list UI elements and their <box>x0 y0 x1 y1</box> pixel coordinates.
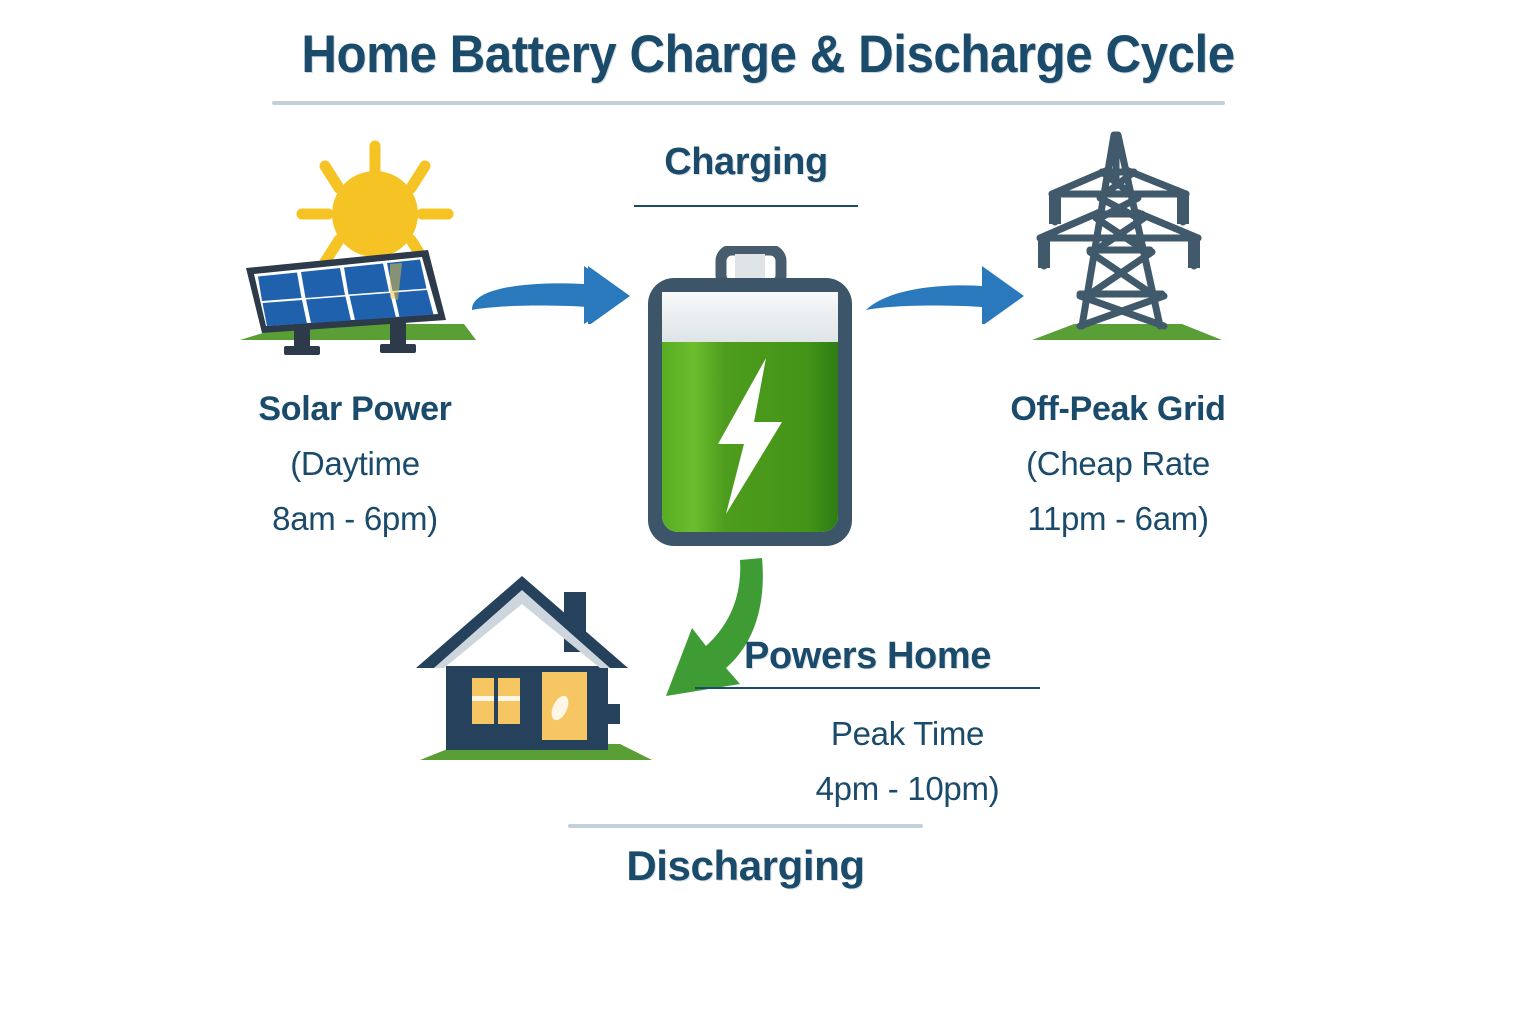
power-transmission-tower-icon <box>1022 126 1232 348</box>
solar-sub-1: (Daytime <box>205 446 505 483</box>
powers-home-sublabel: Peak Time 4pm - 10pm) <box>740 698 1075 826</box>
house-icon <box>412 562 662 784</box>
title-divider <box>272 101 1225 105</box>
infographic-canvas: Home Battery Charge & Discharge Cycle Ch… <box>0 0 1536 1024</box>
powers-home-heading: Powers Home <box>695 635 1040 678</box>
grid-sub-1: (Cheap Rate <box>968 446 1268 483</box>
grid-title: Off-Peak Grid <box>968 390 1268 428</box>
charging-underline <box>634 205 858 207</box>
powers-home-sub-2: 4pm - 10pm) <box>740 771 1075 808</box>
powers-home-underline <box>695 687 1040 689</box>
battery-charged-icon <box>640 246 860 552</box>
grid-sub-2: 11pm - 6am) <box>968 501 1268 538</box>
solar-sub-2: 8am - 6pm) <box>205 501 505 538</box>
page-title: Home Battery Charge & Discharge Cycle <box>54 24 1482 85</box>
solar-label: Solar Power (Daytime 8am - 6pm) <box>205 372 505 556</box>
battery-to-grid-arrow <box>860 252 1030 324</box>
solar-to-battery-arrow <box>466 252 636 324</box>
grid-label: Off-Peak Grid (Cheap Rate 11pm - 6am) <box>968 372 1268 556</box>
discharging-heading: Discharging <box>568 842 923 890</box>
solar-panel-with-sun-icon <box>232 128 482 356</box>
discharging-divider <box>568 824 923 828</box>
solar-title: Solar Power <box>205 390 505 428</box>
powers-home-sub-1: Peak Time <box>740 716 1075 753</box>
charging-heading: Charging <box>634 141 858 184</box>
